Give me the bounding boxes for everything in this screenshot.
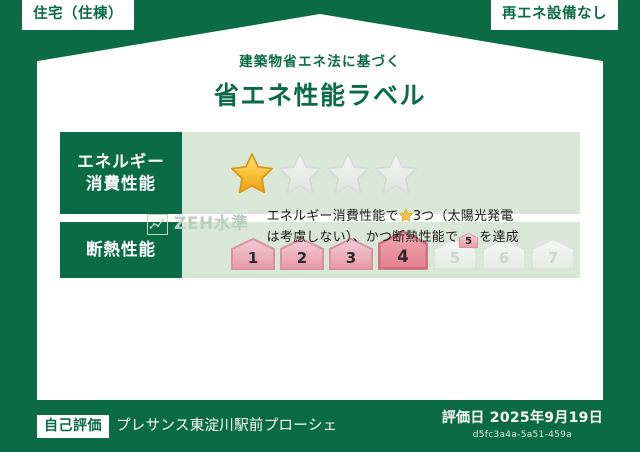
row-energy-label: エネルギー 消費性能: [60, 132, 182, 214]
footer-left: 自己評価 プレサンス東淀川駅前プローシェ: [37, 415, 337, 438]
zeh-chart-icon: [147, 214, 168, 235]
status-badge-self-evaluation: 自己評価: [37, 415, 109, 438]
zeh-desc-line2-b: を達成: [479, 230, 519, 245]
row-energy-label-line1: エネルギー: [77, 151, 165, 173]
footer-right: 評価日 2025年9月19日 d5fc3a4a-5a51-459a: [442, 411, 603, 440]
inline-house-badge-number: 5: [459, 233, 478, 251]
zeh-label: ZEH水準: [174, 216, 249, 233]
zeh-tag: ZEH水準: [147, 206, 249, 235]
star-empty-icon: [278, 151, 322, 195]
title-block: 建築物省エネ法に基づく 省エネ性能ラベル: [37, 56, 603, 108]
evaluation-date: 評価日 2025年9月19日: [442, 411, 603, 425]
row-energy-consumption: エネルギー 消費性能: [60, 132, 580, 214]
insulation-level-number: 6: [499, 251, 509, 271]
insulation-level-7: 7: [530, 237, 576, 271]
insulation-level-number: 5: [450, 251, 460, 271]
energy-performance-label: 住宅（住棟） 再エネ設備なし 建築物省エネ法に基づく 省エネ性能ラベル エネルギ…: [0, 0, 640, 452]
row-energy-label-line2: 消費性能: [86, 173, 156, 195]
building-name: プレサンス東淀川駅前プローシェ: [116, 419, 337, 434]
zeh-description: エネルギー消費性能で3つ（太陽光発電 は考慮しない）、かつ断熱性能で5を達成: [267, 206, 519, 248]
insulation-level-number: 3: [346, 251, 356, 271]
zeh-standard-note: ZEH水準 エネルギー消費性能で3つ（太陽光発電 は考慮しない）、かつ断熱性能で…: [147, 206, 519, 248]
zeh-desc-line2-a: は考慮しない）、かつ断熱性能で: [267, 230, 459, 245]
star-rating: [230, 151, 418, 195]
zeh-description-line2: は考慮しない）、かつ断熱性能で5を達成: [267, 227, 519, 248]
page-title: 省エネ性能ラベル: [37, 83, 603, 108]
star-filled-icon: [230, 151, 274, 195]
insulation-level-number: 7: [548, 251, 558, 271]
insulation-level-number: 1: [248, 251, 258, 271]
row-insulation-label-line1: 断熱性能: [86, 239, 156, 261]
label-panel: 建築物省エネ法に基づく 省エネ性能ラベル エネルギー 消費性能 断熱性能 123…: [37, 14, 603, 400]
insulation-level-number: 4: [397, 249, 408, 272]
row-energy-value: [182, 132, 580, 214]
zeh-desc-line1-a: エネルギー消費性能で: [267, 209, 399, 224]
star-empty-icon: [326, 151, 370, 195]
inline-house-badge-icon: 5: [459, 233, 478, 248]
zeh-description-line1: エネルギー消費性能で3つ（太陽光発電: [267, 206, 519, 227]
badge-renewable-equipment: 再エネ設備なし: [491, 0, 618, 30]
zeh-desc-line1-b: 3つ（太陽光発電: [413, 209, 514, 224]
star-empty-icon: [374, 151, 418, 195]
title-subtitle: 建築物省エネ法に基づく: [37, 56, 603, 70]
inline-star-icon: [399, 208, 413, 222]
evaluation-id: d5fc3a4a-5a51-459a: [442, 431, 603, 440]
badge-building-type: 住宅（住棟）: [22, 0, 134, 30]
insulation-level-number: 2: [297, 251, 307, 271]
